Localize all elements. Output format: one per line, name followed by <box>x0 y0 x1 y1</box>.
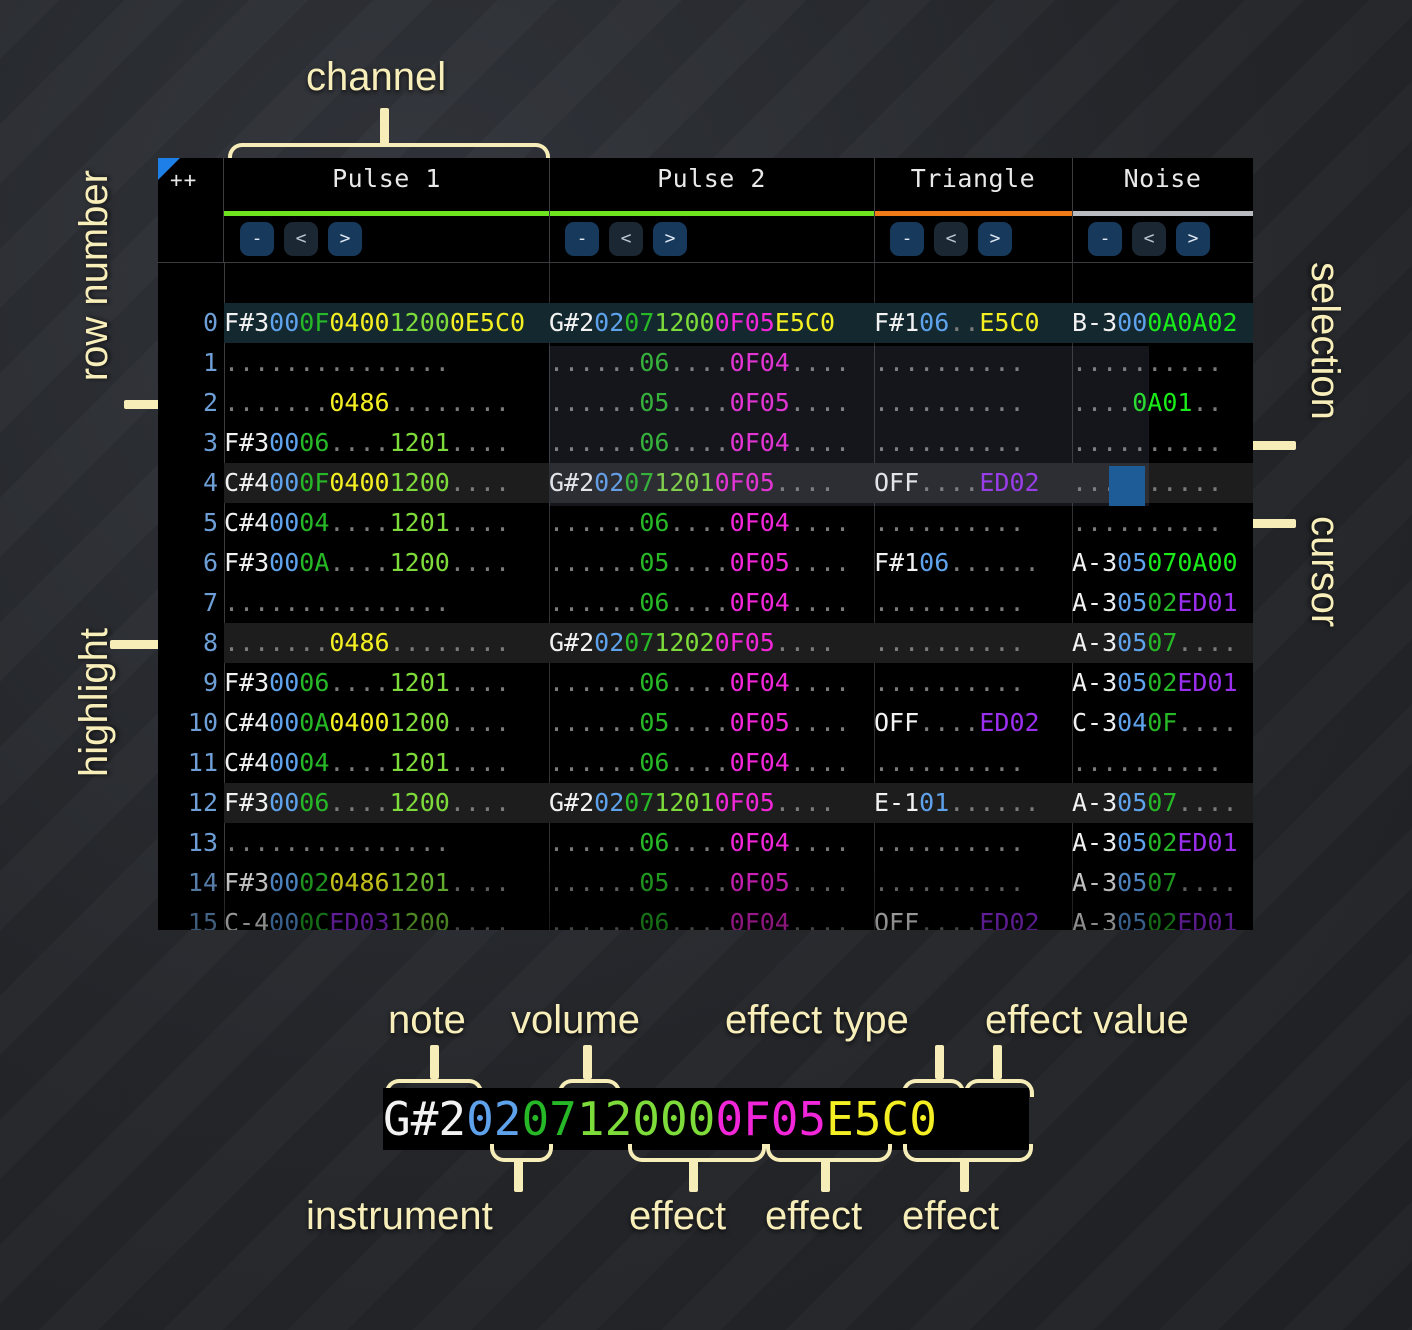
pattern-token: ........ <box>390 388 510 417</box>
pattern-cell[interactable]: .......... <box>1072 503 1253 543</box>
pattern-token: .......... <box>874 588 1025 617</box>
pattern-token: 0F04 <box>730 748 790 777</box>
pattern-cell[interactable]: ............... <box>224 583 549 623</box>
pattern-token: 0A <box>299 708 329 737</box>
pattern-cell[interactable]: A-30507.... <box>1072 623 1253 663</box>
pattern-token: .......... <box>874 828 1025 857</box>
pattern-token: .... <box>790 668 850 697</box>
pattern-token: 05 <box>639 708 669 737</box>
channel-button-row[interactable]: - < > <box>1088 222 1210 256</box>
pattern-cell[interactable]: E-101...... <box>874 783 1072 823</box>
pattern-cell[interactable]: G#2020712020F05.... <box>549 623 874 663</box>
pattern-cell[interactable]: .......... <box>874 663 1072 703</box>
pattern-token: 00 <box>269 668 299 697</box>
pattern-token: .... <box>669 508 729 537</box>
pattern-token: A-3 <box>1072 628 1117 657</box>
channel-next-button[interactable]: > <box>653 222 687 256</box>
pattern-marker-label: ++ <box>170 168 197 192</box>
pattern-token: 1201 <box>390 748 450 777</box>
pattern-token: 0F04 <box>730 828 790 857</box>
pattern-token: C#4 <box>224 468 269 497</box>
pattern-token: 1201 <box>390 428 450 457</box>
pattern-cell[interactable]: G#2020712000F05E5C0 <box>549 303 874 343</box>
pattern-token: ED02 <box>979 708 1039 737</box>
pattern-token: 04 <box>1117 708 1147 737</box>
pattern-cell[interactable]: ............... <box>224 823 549 863</box>
legend-label-effect-value: effect value <box>985 998 1189 1043</box>
row-number-label: 0 <box>158 303 218 343</box>
pattern-cell[interactable]: C-4000CED031200.... <box>224 903 549 930</box>
pattern-token: ....... <box>224 388 329 417</box>
pattern-cell[interactable]: C#4000A04001200.... <box>224 703 549 743</box>
pattern-token: 00 <box>269 428 299 457</box>
pattern-token: 0400 <box>329 708 389 737</box>
pattern-token: 1200 <box>390 908 450 930</box>
annotation-row-number: row number <box>72 170 117 381</box>
pattern-token: E5C0 <box>775 308 835 337</box>
pattern-token: 0400 <box>329 468 389 497</box>
pattern-token: ............... <box>224 588 450 617</box>
pattern-token: 1200 <box>390 788 450 817</box>
pattern-token: .... <box>450 708 510 737</box>
pattern-cell[interactable]: F#30006....1201.... <box>224 423 549 463</box>
pattern-token: .......... <box>1072 508 1223 537</box>
pattern-token: 1200 <box>390 308 450 337</box>
pattern-token: F#1 <box>874 308 919 337</box>
row-number-label: 5 <box>158 503 218 543</box>
pattern-token: A-3 <box>1072 668 1117 697</box>
pattern-token: .... <box>329 548 389 577</box>
pattern-cell[interactable]: .......... <box>874 503 1072 543</box>
channel-mute-button[interactable]: - <box>240 222 274 256</box>
pattern-token: G#2 <box>549 628 594 657</box>
pattern-token: E-1 <box>874 788 919 817</box>
pattern-token: 07 <box>624 628 654 657</box>
channel-prev-button[interactable]: < <box>284 222 318 256</box>
legend-leader-effect-1 <box>689 1158 698 1192</box>
table-row[interactable]: 8.......0486........G#2020712020F05.....… <box>158 623 1253 663</box>
pattern-cell[interactable]: A-30507.... <box>1072 783 1253 823</box>
channel-mute-button[interactable]: - <box>565 222 599 256</box>
legend-token: 12000 <box>577 1092 715 1146</box>
edit-cursor[interactable] <box>1109 466 1145 506</box>
pattern-token: 0F04 <box>730 668 790 697</box>
channel-button-row[interactable]: - < > <box>240 222 362 256</box>
pattern-token: 0F <box>299 308 329 337</box>
pattern-token: ...... <box>549 828 639 857</box>
pattern-cell[interactable]: F#30006....1201.... <box>224 663 549 703</box>
pattern-token: .... <box>450 468 510 497</box>
pattern-token: .......... <box>874 628 1025 657</box>
pattern-token: 05 <box>1117 588 1147 617</box>
pattern-token: ...... <box>549 668 639 697</box>
pattern-token: .... <box>669 908 729 930</box>
pattern-token: OFF <box>874 708 919 737</box>
annotation-selection: selection <box>1302 262 1347 420</box>
pattern-token: 04 <box>299 508 329 537</box>
legend-token: E5C0 <box>826 1092 937 1146</box>
row-number-label: 7 <box>158 583 218 623</box>
annotation-channel: channel <box>306 55 446 100</box>
pattern-token: .... <box>669 668 729 697</box>
channel-underline <box>1072 211 1253 216</box>
channel-header-pulse-2[interactable]: Pulse 2 - < > <box>549 158 874 262</box>
annotation-channel-leader <box>380 108 389 144</box>
legend-token: 0F05 <box>715 1092 826 1146</box>
pattern-cell[interactable]: F#106...... <box>874 543 1072 583</box>
pattern-token: 0F04 <box>730 908 790 930</box>
legend-label-effect-1: effect <box>629 1194 726 1239</box>
table-row[interactable]: 9F#30006....1201..........06....0F04....… <box>158 663 1253 703</box>
column-divider <box>1072 158 1073 262</box>
pattern-token: .... <box>790 828 850 857</box>
pattern-token: ED03 <box>329 908 389 930</box>
pattern-token: 01 <box>919 788 949 817</box>
pattern-token: ........ <box>390 628 510 657</box>
pattern-token: 05 <box>1117 868 1147 897</box>
pattern-cell[interactable]: ......06....0F04.... <box>549 903 874 930</box>
pattern-cell[interactable]: A-30507.... <box>1072 863 1253 903</box>
pattern-token: 06 <box>299 428 329 457</box>
pattern-token: 07 <box>624 788 654 817</box>
pattern-token: F#3 <box>224 548 269 577</box>
pattern-token: .. <box>949 308 979 337</box>
pattern-token: .... <box>669 588 729 617</box>
pattern-token: 06 <box>919 308 949 337</box>
pattern-cell[interactable]: A-305070A00 <box>1072 543 1253 583</box>
pattern-token: A-3 <box>1072 788 1117 817</box>
row-number-label: 10 <box>158 703 218 743</box>
channel-prev-button[interactable]: < <box>934 222 968 256</box>
pattern-grid[interactable]: 0F#3000F040012000E5C0G#2020712000F05E5C0… <box>158 263 1253 930</box>
pattern-token: .... <box>790 548 850 577</box>
pattern-token: B-3 <box>1072 308 1117 337</box>
pattern-token: F#3 <box>224 868 269 897</box>
pattern-token: 00 <box>269 308 299 337</box>
pattern-token: A-3 <box>1072 908 1117 930</box>
pattern-token: 00 <box>269 468 299 497</box>
pattern-token: 1202 <box>654 628 714 657</box>
pattern-token: ...... <box>549 868 639 897</box>
pattern-token: 0400 <box>329 308 389 337</box>
pattern-cell[interactable]: A-30502ED01 <box>1072 663 1253 703</box>
pattern-token: 05 <box>1117 788 1147 817</box>
table-row[interactable]: 5C#40004....1201..........06....0F04....… <box>158 503 1253 543</box>
pattern-token: 05 <box>1117 828 1147 857</box>
pattern-cell[interactable]: F#106..E5C0 <box>874 303 1072 343</box>
channel-header-pulse-1[interactable]: Pulse 1 - < > <box>224 158 549 262</box>
pattern-token: C-3 <box>1072 708 1117 737</box>
pattern-token: F#3 <box>224 668 269 697</box>
pattern-cell[interactable]: ......06....0F04.... <box>549 823 874 863</box>
pattern-token: 05 <box>1117 628 1147 657</box>
pattern-token: .......... <box>874 748 1025 777</box>
pattern-token: F#3 <box>224 788 269 817</box>
pattern-token: .... <box>669 708 729 737</box>
pattern-token: 0F05 <box>715 308 775 337</box>
pattern-cell[interactable]: F#30006....1200.... <box>224 783 549 823</box>
pattern-token: .......... <box>874 508 1025 537</box>
pattern-cell[interactable]: F#3000F040012000E5C0 <box>224 303 549 343</box>
row-number-label: 1 <box>158 343 218 383</box>
pattern-cell[interactable]: .......... <box>874 583 1072 623</box>
pattern-token: .... <box>450 748 510 777</box>
pattern-token: 02 <box>299 868 329 897</box>
pattern-token: 0486 <box>329 868 389 897</box>
channel-header-noise[interactable]: Noise - < > <box>1072 158 1253 262</box>
pattern-cell[interactable]: B-3000A0A02 <box>1072 303 1253 343</box>
pattern-token: C-4 <box>224 908 269 930</box>
pattern-token: .... <box>450 788 510 817</box>
pattern-token: ...... <box>949 548 1039 577</box>
pattern-token: 0F05 <box>715 628 775 657</box>
channel-prev-button[interactable]: < <box>609 222 643 256</box>
pattern-token: .......... <box>874 868 1025 897</box>
pattern-token: 0F05 <box>730 708 790 737</box>
pattern-token: 0F04 <box>730 588 790 617</box>
pattern-token: 06 <box>639 748 669 777</box>
table-row[interactable]: 10C#4000A04001200..........05....0F05...… <box>158 703 1253 743</box>
pattern-token: 05 <box>1117 908 1147 930</box>
pattern-token: .... <box>329 748 389 777</box>
pattern-token: .... <box>450 668 510 697</box>
pattern-token: ...... <box>949 788 1039 817</box>
annotation-cursor: cursor <box>1302 516 1347 627</box>
pattern-token: OFF <box>874 908 919 930</box>
pattern-token: 06 <box>919 548 949 577</box>
legend-leader-volume <box>583 1045 592 1079</box>
tracker-panel[interactable]: ++ Pulse 1 - < > Pulse 2 - < > Triangle <box>158 158 1253 930</box>
pattern-token: A-3 <box>1072 588 1117 617</box>
pattern-token: 00 <box>269 868 299 897</box>
pattern-token: F#3 <box>224 308 269 337</box>
legend-token: 07 <box>521 1092 576 1146</box>
pattern-cell[interactable]: C#40004....1201.... <box>224 743 549 783</box>
legend-label-note: note <box>388 998 466 1043</box>
pattern-token: 0486 <box>329 628 389 657</box>
pattern-cell[interactable]: ............... <box>224 343 549 383</box>
pattern-cell[interactable]: .......0486........ <box>224 623 549 663</box>
channel-mute-button[interactable]: - <box>1088 222 1122 256</box>
pattern-token: ...... <box>549 588 639 617</box>
column-divider <box>549 158 550 262</box>
pattern-token: 04 <box>299 748 329 777</box>
pattern-token: 0E5C0 <box>450 308 525 337</box>
legend-label-effect-type: effect type <box>725 998 909 1043</box>
pattern-cell[interactable]: ......06....0F04.... <box>549 503 874 543</box>
pattern-cell[interactable]: .......... <box>874 863 1072 903</box>
pattern-cell[interactable]: C#40004....1201.... <box>224 503 549 543</box>
pattern-token: 02 <box>594 628 624 657</box>
pattern-token: 1200 <box>390 548 450 577</box>
channel-next-button[interactable]: > <box>328 222 362 256</box>
pattern-token: .... <box>790 868 850 897</box>
table-row[interactable]: 14F#3000204861201..........05....0F05...… <box>158 863 1253 903</box>
pattern-token: 0A <box>299 548 329 577</box>
pattern-token: .... <box>1177 788 1237 817</box>
channel-button-row[interactable]: - < > <box>565 222 687 256</box>
pattern-cell[interactable]: C-3040F.... <box>1072 703 1253 743</box>
pattern-token: ....... <box>224 628 329 657</box>
pattern-token: G#2 <box>549 308 594 337</box>
pattern-token: A-3 <box>1072 828 1117 857</box>
pattern-cell[interactable]: F#3000204861201.... <box>224 863 549 903</box>
pattern-token: .... <box>450 508 510 537</box>
annotation-highlight: highlight <box>72 628 117 777</box>
legend-token: 02 <box>466 1092 521 1146</box>
pattern-token: 1200 <box>654 308 714 337</box>
pattern-cell[interactable]: ......06....0F04.... <box>549 583 874 623</box>
pattern-cell[interactable]: .......... <box>874 623 1072 663</box>
table-row[interactable]: 15C-4000CED031200..........06....0F04...… <box>158 903 1253 930</box>
table-row[interactable]: 7.....................06....0F04........… <box>158 583 1253 623</box>
channel-prev-button[interactable]: < <box>1132 222 1166 256</box>
pattern-token: ED01 <box>1177 588 1237 617</box>
table-row[interactable]: 12F#30006....1200....G#2020712010F05....… <box>158 783 1253 823</box>
pattern-cell[interactable]: ......05....0F05.... <box>549 543 874 583</box>
pattern-token: 05 <box>639 548 669 577</box>
legend-leader-effect-type <box>935 1045 944 1079</box>
channel-header-triangle[interactable]: Triangle - < > <box>874 158 1072 262</box>
pattern-token: F#1 <box>874 548 919 577</box>
channel-mute-button[interactable]: - <box>890 222 924 256</box>
legend-row-example: G#20207120000F05E5C0 <box>383 1088 1029 1150</box>
pattern-token: 07 <box>624 308 654 337</box>
pattern-cell[interactable]: OFF....ED02 <box>874 703 1072 743</box>
pattern-token: ...... <box>549 748 639 777</box>
pattern-token: 06 <box>639 668 669 697</box>
pattern-token: ED01 <box>1177 908 1237 930</box>
table-row[interactable]: 0F#3000F040012000E5C0G#2020712000F05E5C0… <box>158 303 1253 343</box>
pattern-token: 05 <box>1117 548 1147 577</box>
channel-underline <box>549 211 874 216</box>
pattern-cell[interactable]: .......... <box>874 823 1072 863</box>
pattern-token: ...... <box>549 708 639 737</box>
pattern-token: .... <box>775 788 835 817</box>
pattern-token: 00 <box>269 908 299 930</box>
pattern-token: 1201 <box>390 668 450 697</box>
pattern-token: C#4 <box>224 508 269 537</box>
pattern-token: 06 <box>639 508 669 537</box>
pattern-token: 02 <box>594 788 624 817</box>
channel-next-button[interactable]: > <box>1176 222 1210 256</box>
pattern-token: 0F04 <box>730 508 790 537</box>
pattern-cell[interactable]: A-30502ED01 <box>1072 823 1253 863</box>
pattern-cell[interactable]: .......... <box>874 743 1072 783</box>
channel-name-label: Triangle <box>874 164 1072 193</box>
row-number-label: 2 <box>158 383 218 423</box>
pattern-token: .... <box>775 628 835 657</box>
legend-label-effect-3: effect <box>902 1194 999 1239</box>
header-rownumber-cell: ++ <box>158 158 224 262</box>
pattern-token: 00 <box>269 708 299 737</box>
pattern-token: A-3 <box>1072 548 1117 577</box>
pattern-token: .... <box>669 548 729 577</box>
legend-label-instrument: instrument <box>306 1194 493 1239</box>
pattern-token: .... <box>450 908 510 930</box>
pattern-token: .... <box>450 428 510 457</box>
pattern-token: .... <box>329 788 389 817</box>
pattern-token: 05 <box>1117 668 1147 697</box>
pattern-token: .... <box>669 748 729 777</box>
pattern-token: .... <box>1177 868 1237 897</box>
channel-button-row[interactable]: - < > <box>890 222 1012 256</box>
pattern-token: ...... <box>549 508 639 537</box>
pattern-cell[interactable]: C#4000F04001200.... <box>224 463 549 503</box>
pattern-token: 05 <box>639 868 669 897</box>
row-number-label: 14 <box>158 863 218 903</box>
channel-header-bar: ++ Pulse 1 - < > Pulse 2 - < > Triangle <box>158 158 1253 262</box>
pattern-token: 07 <box>1147 788 1177 817</box>
channel-name-label: Noise <box>1072 164 1253 193</box>
pattern-cell[interactable]: .......... <box>1072 743 1253 783</box>
table-row[interactable]: 11C#40004....1201..........06....0F04...… <box>158 743 1253 783</box>
table-row[interactable]: 6F#3000A....1200..........05....0F05....… <box>158 543 1253 583</box>
pattern-token: .... <box>669 828 729 857</box>
pattern-cell[interactable]: F#3000A....1200.... <box>224 543 549 583</box>
pattern-cell[interactable]: ......06....0F04.... <box>549 663 874 703</box>
pattern-token: 06 <box>639 908 669 930</box>
channel-next-button[interactable]: > <box>978 222 1012 256</box>
pattern-cell[interactable]: ......05....0F05.... <box>549 703 874 743</box>
pattern-token: .... <box>790 588 850 617</box>
row-number-label: 9 <box>158 663 218 703</box>
pattern-token: .... <box>669 868 729 897</box>
pattern-token: ED01 <box>1177 668 1237 697</box>
pattern-cell[interactable]: ......06....0F04.... <box>549 743 874 783</box>
pattern-token: ...... <box>549 548 639 577</box>
channel-name-label: Pulse 1 <box>224 164 549 193</box>
pattern-token: .... <box>1177 628 1237 657</box>
legend-label-volume: volume <box>511 998 640 1043</box>
pattern-token: 0F05 <box>730 548 790 577</box>
pattern-cell[interactable]: G#2020712010F05.... <box>549 783 874 823</box>
pattern-token: E5C0 <box>979 308 1039 337</box>
channel-underline <box>874 211 1072 216</box>
row-number-label: 4 <box>158 463 218 503</box>
pattern-token: .......... <box>1072 748 1223 777</box>
legend-leader-effect-2 <box>821 1158 830 1192</box>
pattern-cell[interactable]: A-30502ED01 <box>1072 583 1253 623</box>
selection-region[interactable] <box>549 346 1149 506</box>
pattern-token: G#2 <box>549 788 594 817</box>
pattern-token: .......... <box>874 668 1025 697</box>
column-divider <box>874 158 875 262</box>
row-number-label: 15 <box>158 903 218 930</box>
pattern-token: .... <box>329 508 389 537</box>
pattern-token: 02 <box>1147 908 1177 930</box>
pattern-token: 02 <box>1147 588 1177 617</box>
table-row[interactable]: 13.....................06....0F04.......… <box>158 823 1253 863</box>
pattern-token: ...... <box>549 908 639 930</box>
pattern-token: 1200 <box>390 468 450 497</box>
pattern-cell[interactable]: ......05....0F05.... <box>549 863 874 903</box>
pattern-token: 0A0A02 <box>1147 308 1237 337</box>
pattern-cell[interactable]: OFF....ED02 <box>874 903 1072 930</box>
pattern-token: 00 <box>269 748 299 777</box>
pattern-token: 1200 <box>390 708 450 737</box>
row-number-label: 3 <box>158 423 218 463</box>
pattern-cell[interactable]: .......0486........ <box>224 383 549 423</box>
pattern-token: .... <box>790 708 850 737</box>
pattern-token: 0F <box>299 468 329 497</box>
pattern-token: 1201 <box>390 508 450 537</box>
pattern-token: 06 <box>299 668 329 697</box>
pattern-token: 0486 <box>329 388 389 417</box>
row-number-label: 12 <box>158 783 218 823</box>
pattern-token: ED02 <box>979 908 1039 930</box>
pattern-cell[interactable]: A-30502ED01 <box>1072 903 1253 930</box>
